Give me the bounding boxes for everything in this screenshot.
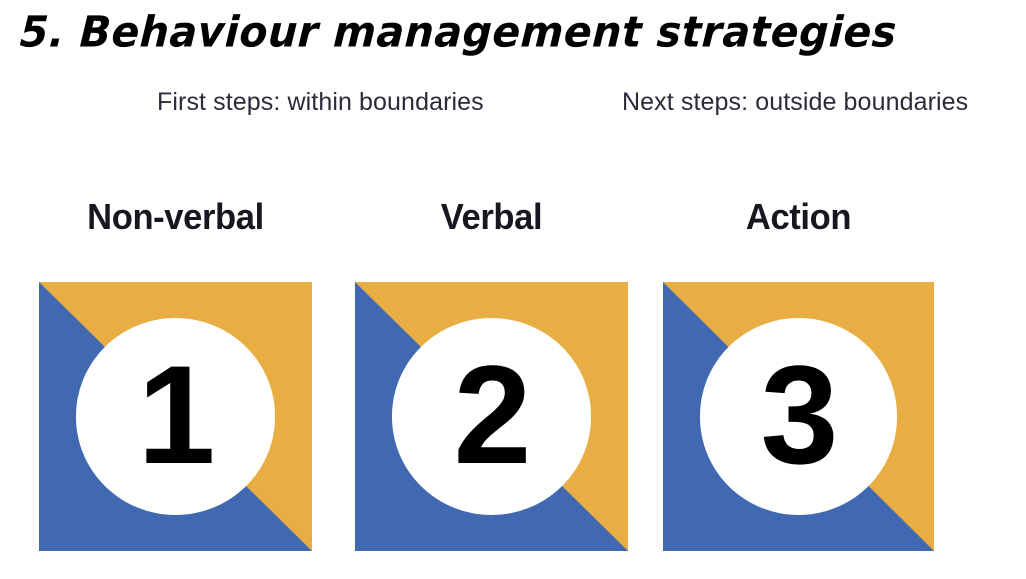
- step-number-3: 3: [663, 282, 934, 551]
- step-tile-2: 2: [355, 282, 628, 551]
- step-number-1: 1: [39, 282, 312, 551]
- strategy-steps: 1 2 3: [0, 0, 1026, 579]
- slide-canvas: 5. Behaviour management strategies First…: [0, 0, 1026, 579]
- step-tile-3: 3: [663, 282, 934, 551]
- step-tile-1: 1: [39, 282, 312, 551]
- step-number-2: 2: [355, 282, 628, 551]
